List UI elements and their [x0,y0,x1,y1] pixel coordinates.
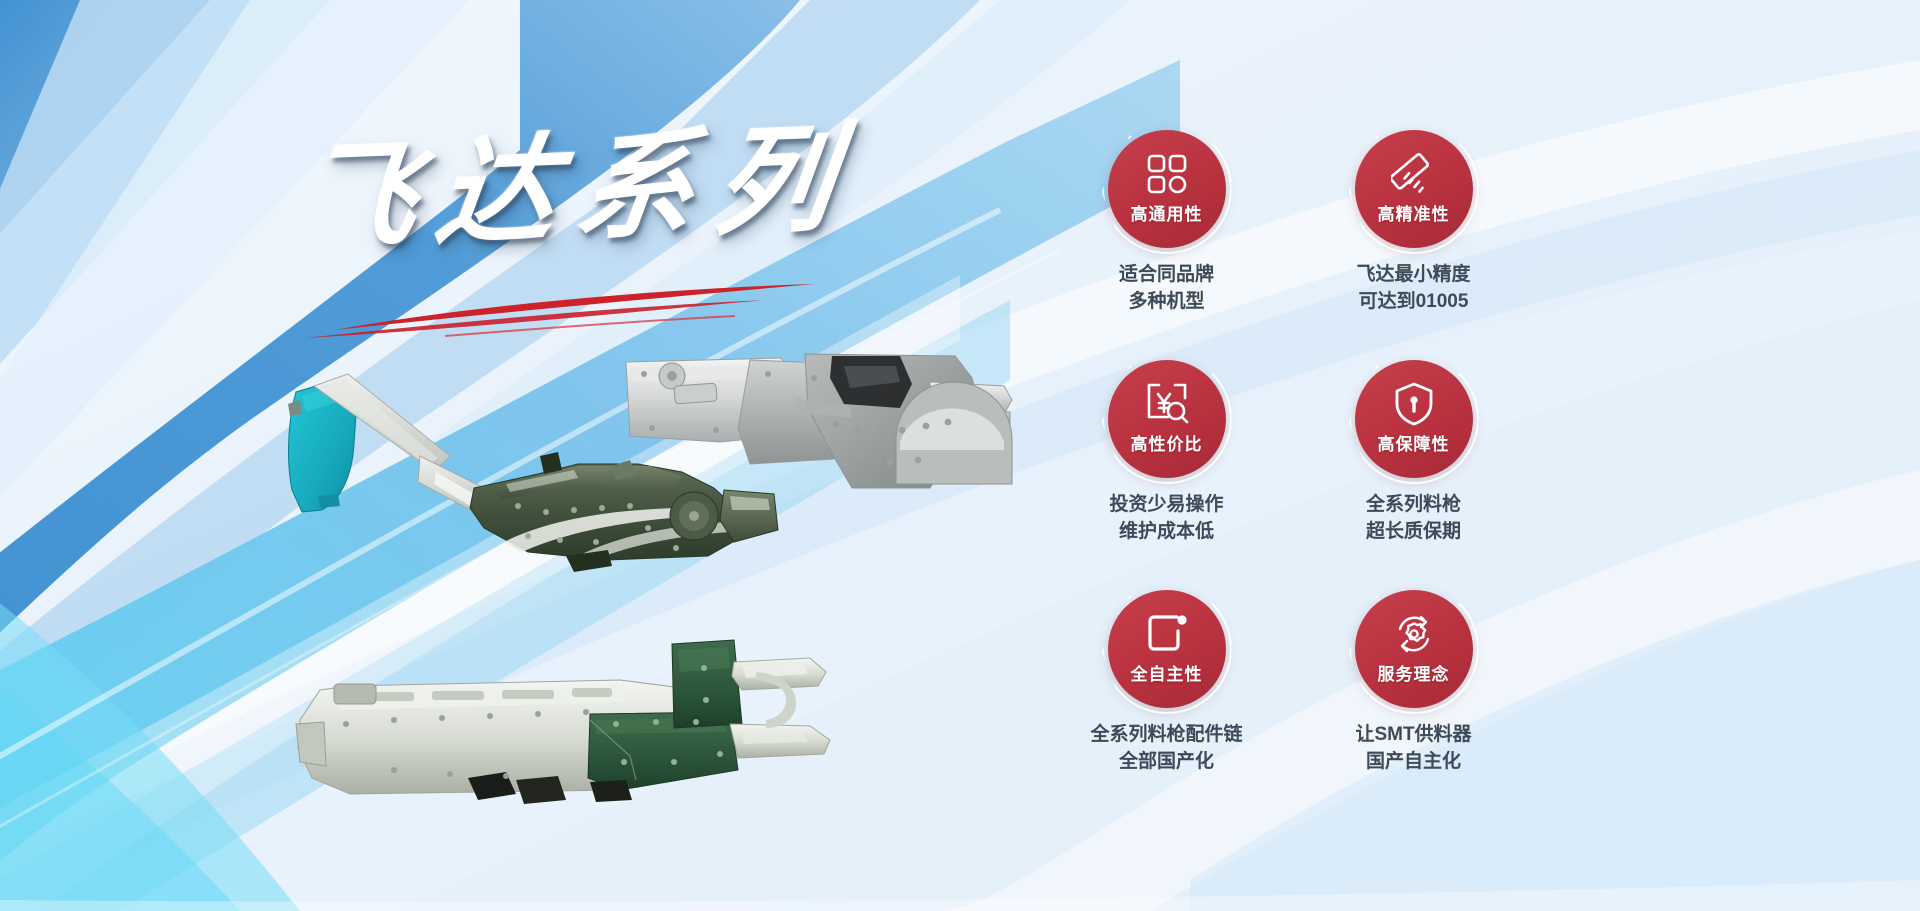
feature-caption-line2: 维护成本低 [1109,519,1223,546]
feature-item-high-value[interactable]: 高性价比 投资少易操作 维护成本低 [1055,360,1278,590]
feature-item-high-precision[interactable]: 高精准性 飞达最小精度 可达到01005 [1302,130,1525,360]
feature-caption: 飞达最小精度 可达到01005 [1356,262,1470,316]
feature-caption-line2: 全部国产化 [1090,749,1242,776]
shield-lock-icon [1391,381,1437,427]
feature-badge[interactable]: 全自主性 [1108,590,1226,708]
feature-caption-line2: 可达到01005 [1356,289,1470,316]
feature-caption-line1: 全系列料枪 [1366,494,1461,515]
feature-item-high-warranty[interactable]: 高保障性 全系列料枪 超长质保期 [1302,360,1525,590]
feature-title: 高精准性 [1378,200,1450,225]
feature-grid: 高通用性 适合同品牌 多种机型 高精准性 [1055,130,1525,820]
feature-title: 高保障性 [1378,430,1450,455]
feature-caption: 投资少易操作 维护成本低 [1109,492,1223,546]
gear-refresh-icon [1391,611,1437,657]
feature-title: 高性价比 [1131,430,1203,455]
feature-badge[interactable]: 高精准性 [1355,130,1473,248]
feature-badge[interactable]: 高性价比 [1108,360,1226,478]
feature-badge[interactable]: 高通用性 [1108,130,1226,248]
square-dot-autonomy-icon [1144,611,1190,657]
grid-four-tiles-icon [1144,151,1190,197]
feature-item-high-versatility[interactable]: 高通用性 适合同品牌 多种机型 [1055,130,1278,360]
feature-title: 全自主性 [1131,660,1203,685]
feature-caption-line2: 超长质保期 [1366,519,1461,546]
yen-magnifier-icon [1144,381,1190,427]
page-title: 飞达系列 [291,118,928,260]
ruler-icon [1391,151,1437,197]
feature-badge[interactable]: 高保障性 [1355,360,1473,478]
hero-title-block: 飞达系列 [300,130,920,340]
feature-caption-line1: 适合同品牌 [1119,264,1214,285]
feature-title: 高通用性 [1131,200,1203,225]
feature-caption: 全系列料枪配件链 全部国产化 [1090,722,1242,776]
feature-badge[interactable]: 服务理念 [1355,590,1473,708]
red-brush-swoosh-icon [295,280,855,340]
product-image-long-green-smt-feeder [290,628,850,818]
feature-item-service-concept[interactable]: 服务理念 让SMT供料器 国产自主化 [1302,590,1525,820]
feature-caption-line2: 多种机型 [1119,289,1214,316]
product-image-green-smt-feeder-with-teal-reel [278,360,798,600]
feature-caption-line2: 国产自主化 [1355,749,1471,776]
feature-caption-line1: 投资少易操作 [1109,494,1223,515]
feature-item-full-autonomy[interactable]: 全自主性 全系列料枪配件链 全部国产化 [1055,590,1278,820]
feature-caption-line1: 全系列料枪配件链 [1090,724,1242,745]
feature-caption: 适合同品牌 多种机型 [1119,262,1214,316]
feature-title: 服务理念 [1378,660,1450,685]
feature-caption: 全系列料枪 超长质保期 [1366,492,1461,546]
feature-caption-line1: 让SMT供料器 [1355,724,1471,745]
hero-banner: 飞达系列 [0,0,1920,911]
feature-caption: 让SMT供料器 国产自主化 [1355,722,1471,776]
feature-caption-line1: 飞达最小精度 [1356,264,1470,285]
